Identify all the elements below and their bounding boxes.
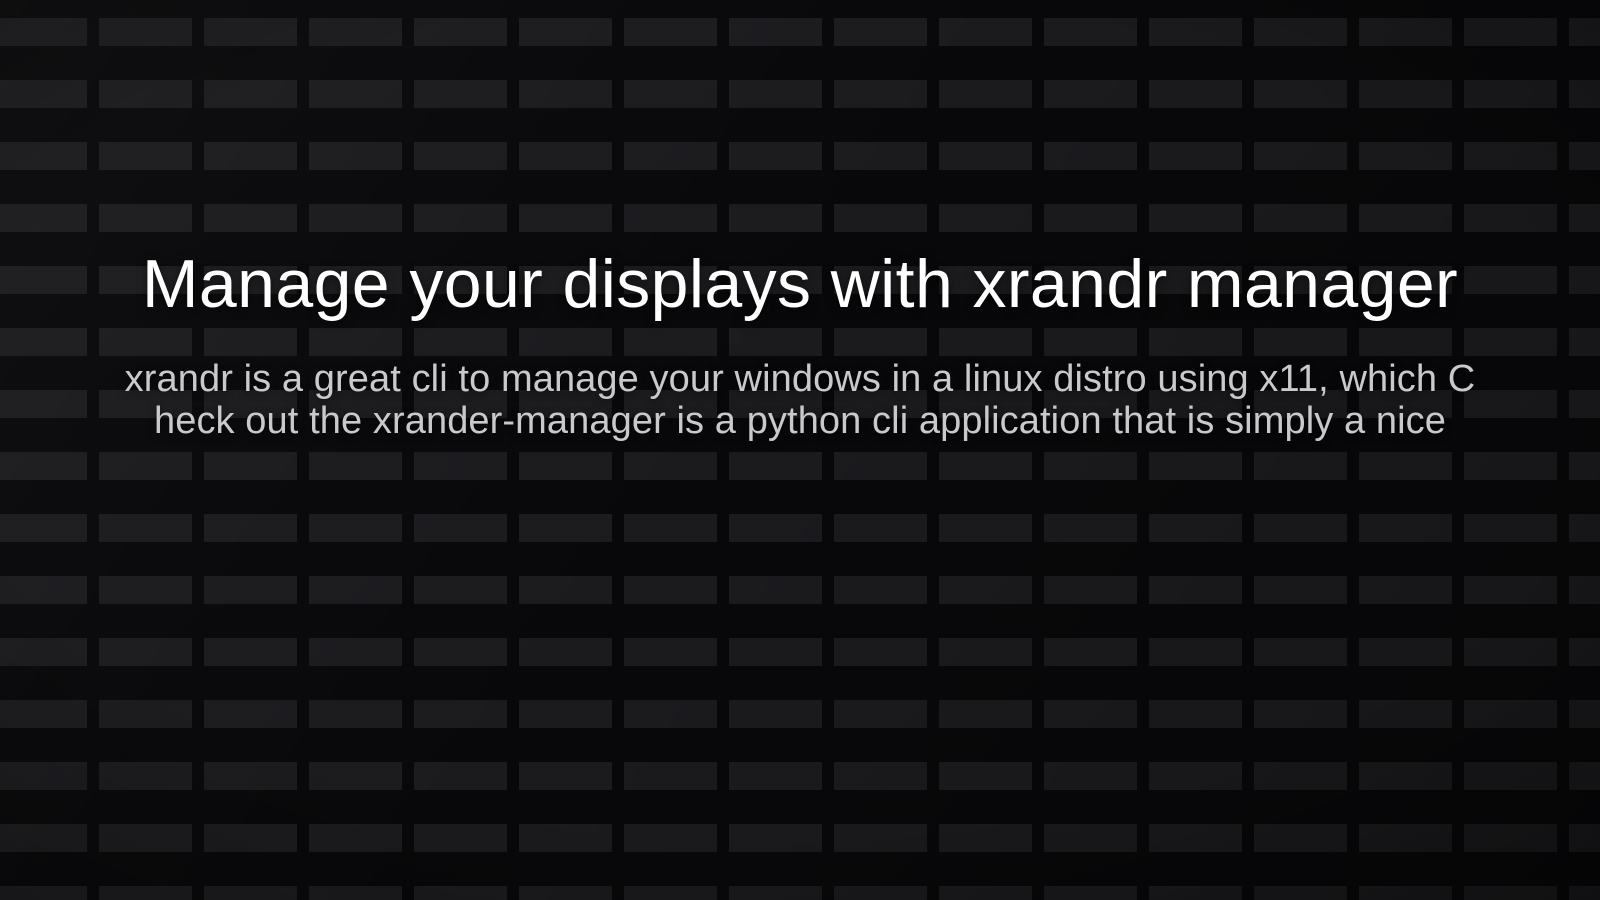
- og-image-card: Manage your displays with xrandr manager…: [0, 0, 1600, 900]
- card-content: Manage your displays with xrandr manager…: [0, 0, 1600, 900]
- page-subtitle: xrandr is a great cli to manage your win…: [124, 358, 1476, 442]
- page-title: Manage your displays with xrandr manager: [142, 246, 1458, 322]
